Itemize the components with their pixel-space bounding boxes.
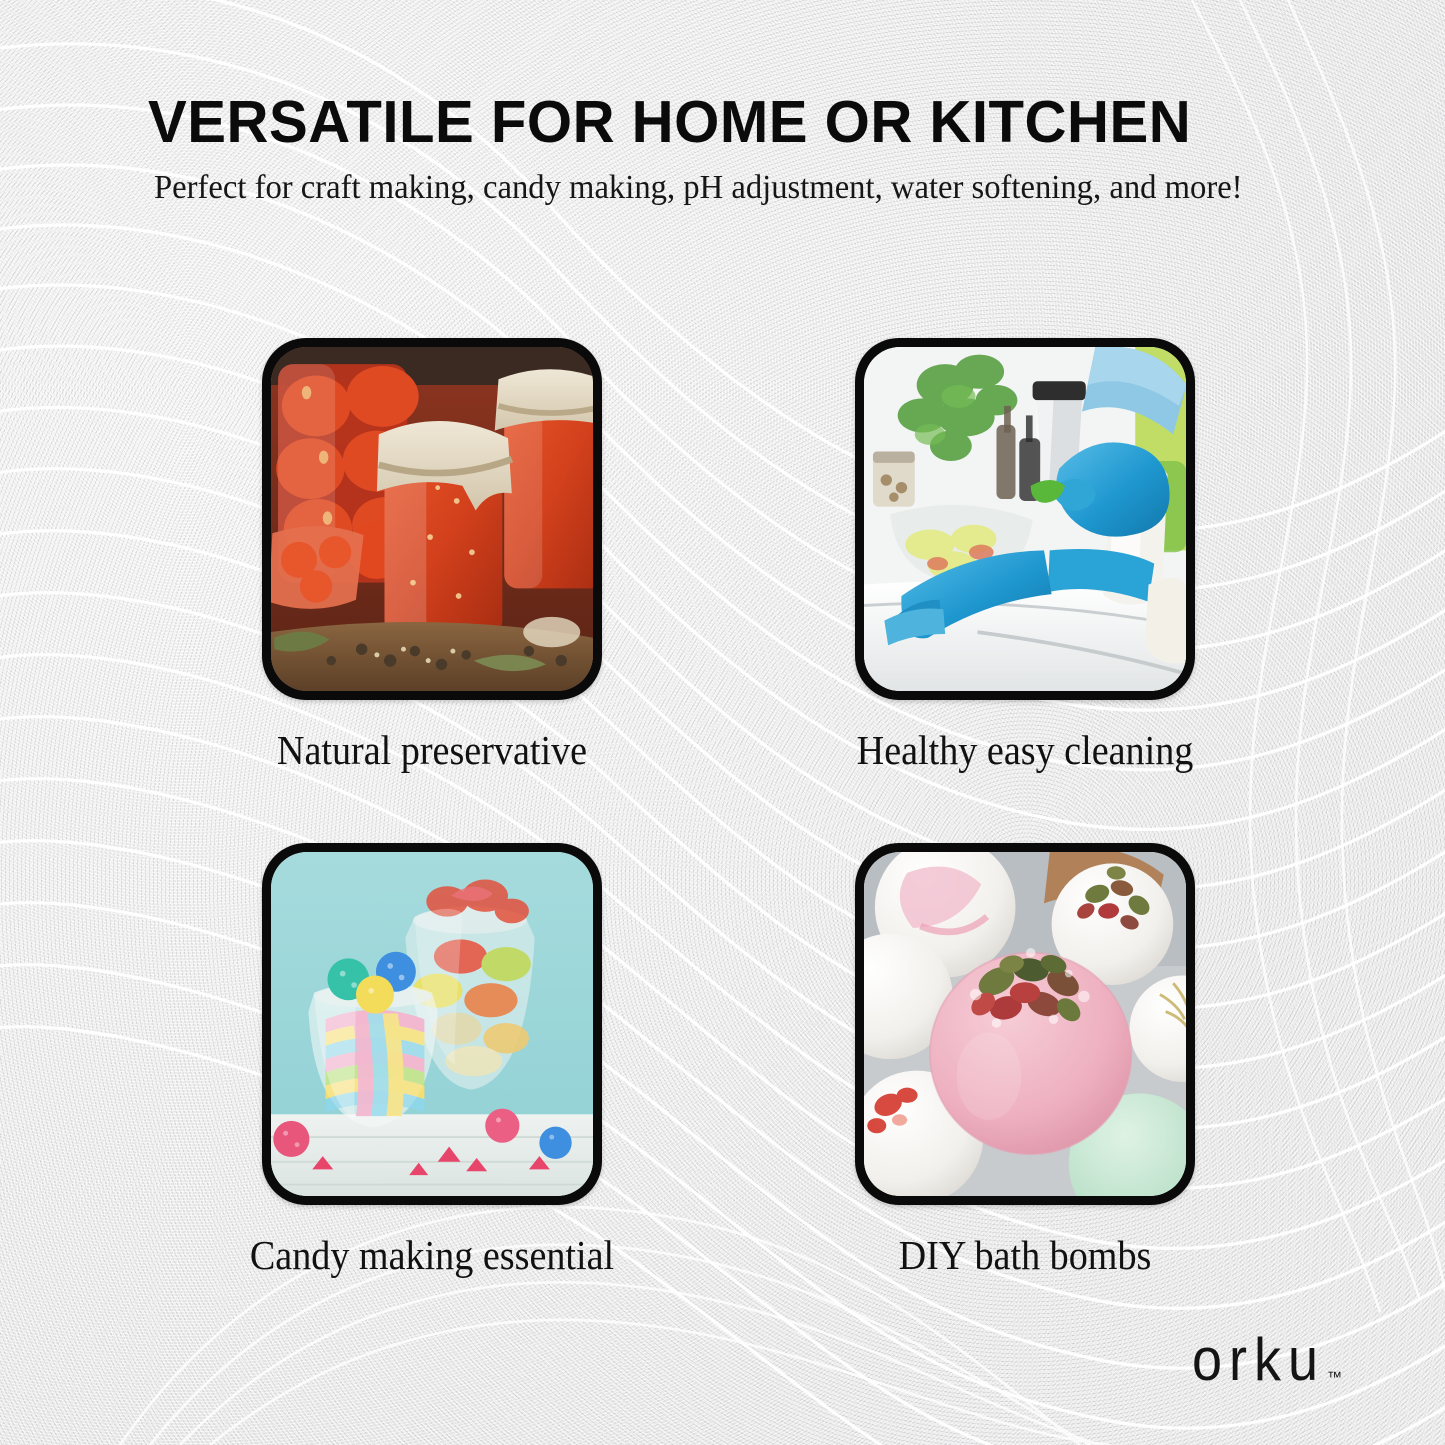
page-subtitle: Perfect for craft making, candy making, … [154,166,1258,210]
card-caption: Natural preservative [190,726,674,774]
card-caption: Candy making essential [190,1231,674,1279]
photo-frame [855,338,1195,700]
page-title: VERSATILE FOR HOME OR KITCHEN [148,92,1340,152]
photo-frame [855,843,1195,1205]
background-contour-lines [0,0,1445,1445]
photo-frame [262,843,602,1205]
preserved-tomatoes-photo [271,347,593,691]
header-block: VERSATILE FOR HOME OR KITCHEN Perfect fo… [148,92,1358,210]
bath-bombs-photo [864,852,1186,1196]
brand-logo: orku ™ [1192,1336,1342,1390]
kitchen-cleaning-photo [864,347,1186,691]
card-caption: Healthy easy cleaning [783,726,1267,774]
candy-jar-photo [271,852,593,1196]
trademark-symbol: ™ [1327,1369,1342,1386]
photo-frame [262,338,602,700]
card-caption: DIY bath bombs [783,1231,1267,1279]
brand-logo-wordmark: orku [1192,1330,1325,1390]
